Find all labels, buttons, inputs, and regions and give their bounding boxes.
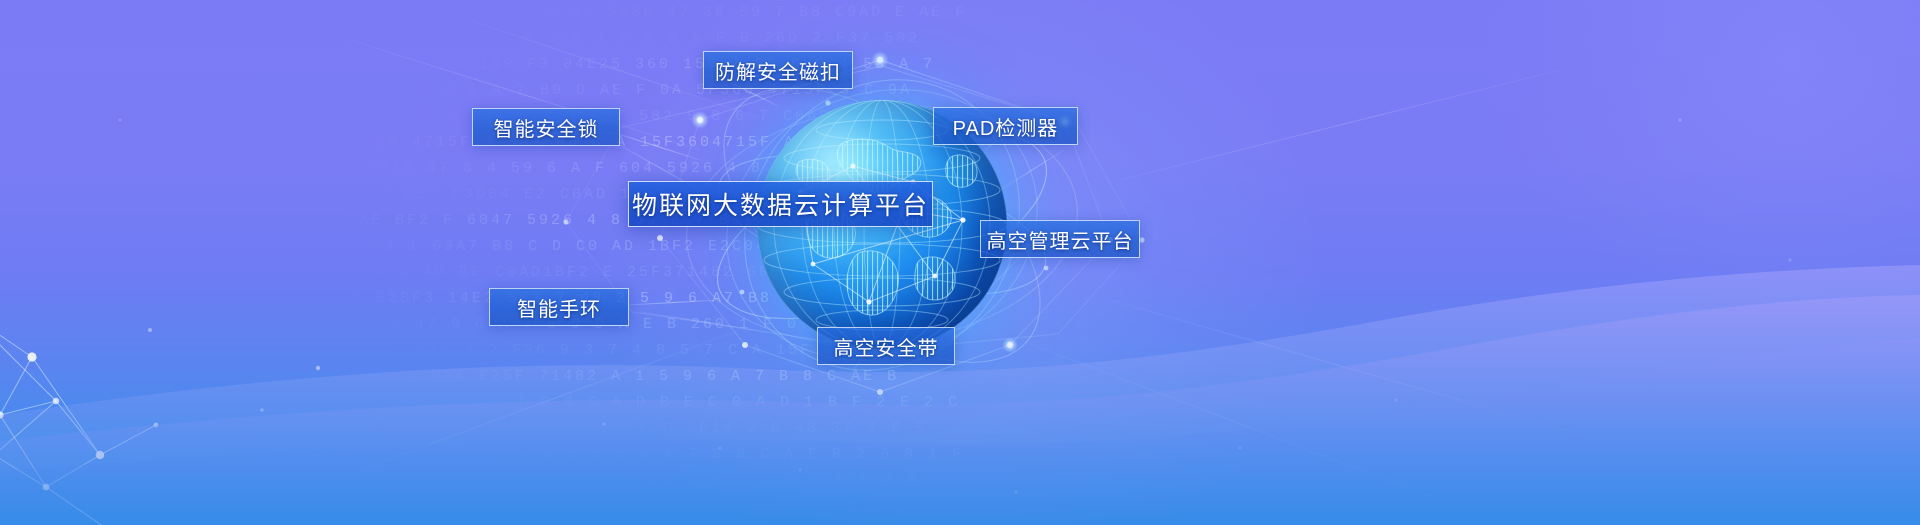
node-label-lock[interactable]: 智能安全锁 <box>472 108 620 146</box>
hex-texture-row: C0AD 1BF2 E2C04 15E2 0 48 5936 47 36 59 … <box>295 0 1450 26</box>
node-label-pad[interactable]: PAD检测器 <box>933 107 1078 145</box>
node-label-band[interactable]: 智能手环 <box>489 288 629 326</box>
iot-platform-banner: C0AD 1BF2 E2C04 15E2 0 48 5936 47 36 59 … <box>0 0 1920 525</box>
hex-texture-row: 2C 3D1 4 25936 4 8 5 9 6 A 7 B 9 C A E B… <box>364 442 1450 468</box>
hex-texture-row: A 7 B 8 C AE BF 2 F 3 D 0 4 E 2 C 0 A D … <box>331 468 1450 494</box>
node-label-cloud[interactable]: 高空管理云平台 <box>980 220 1140 258</box>
hex-texture-row: C9 B F 1 B 6 482 5 9 2 6 4 8 5 9 6 A 7 B… <box>335 520 1450 525</box>
node-label-belt[interactable]: 高空安全带 <box>817 327 955 365</box>
constellation-decoration <box>0 305 260 525</box>
top-right-glow <box>1480 0 1920 320</box>
node-label-magnet[interactable]: 防解安全磁扣 <box>703 51 853 89</box>
center-node-label[interactable]: 物联网大数据云计算平台 <box>628 181 933 227</box>
hex-texture-row: 6 A 7 B 9 D A E B 2 6 0 1 F 0 3 7 1 5 9 … <box>298 494 1450 520</box>
